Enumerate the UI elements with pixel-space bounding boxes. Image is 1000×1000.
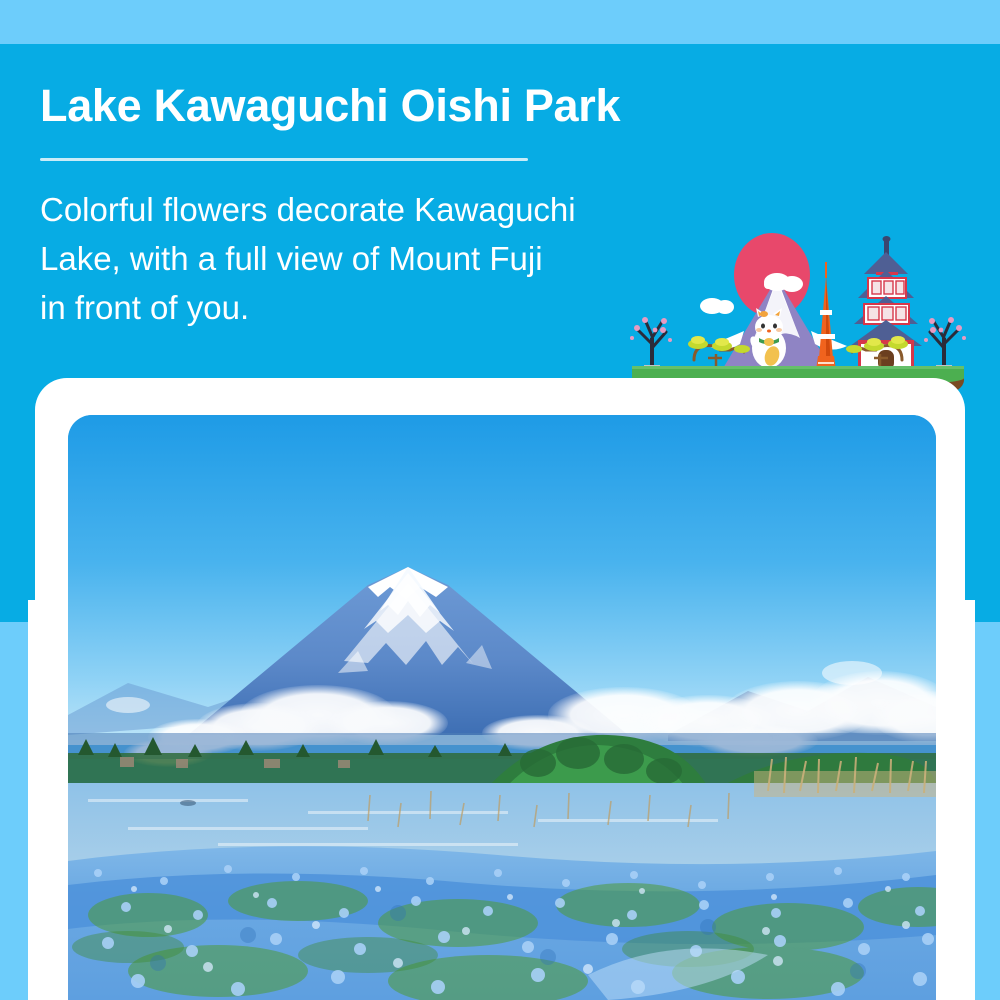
page-title: Lake Kawaguchi Oishi Park xyxy=(40,82,740,129)
page-subtitle: Colorful flowers decorate Kawaguchi Lake… xyxy=(40,186,720,332)
top-accent-band xyxy=(0,0,1000,44)
poster-canvas: Lake Kawaguchi Oishi Park Colorful flowe… xyxy=(0,0,1000,1000)
title-divider xyxy=(40,158,528,161)
cherry-blossom-tree-right-icon xyxy=(924,317,966,369)
subtitle-line-1: Colorful flowers decorate Kawaguchi xyxy=(40,186,720,235)
lake-kawaguchi-photo xyxy=(68,415,936,1000)
subtitle-line-2: Lake, with a full view of Mount Fuji xyxy=(40,235,720,284)
subtitle-line-3: in front of you. xyxy=(40,284,720,333)
